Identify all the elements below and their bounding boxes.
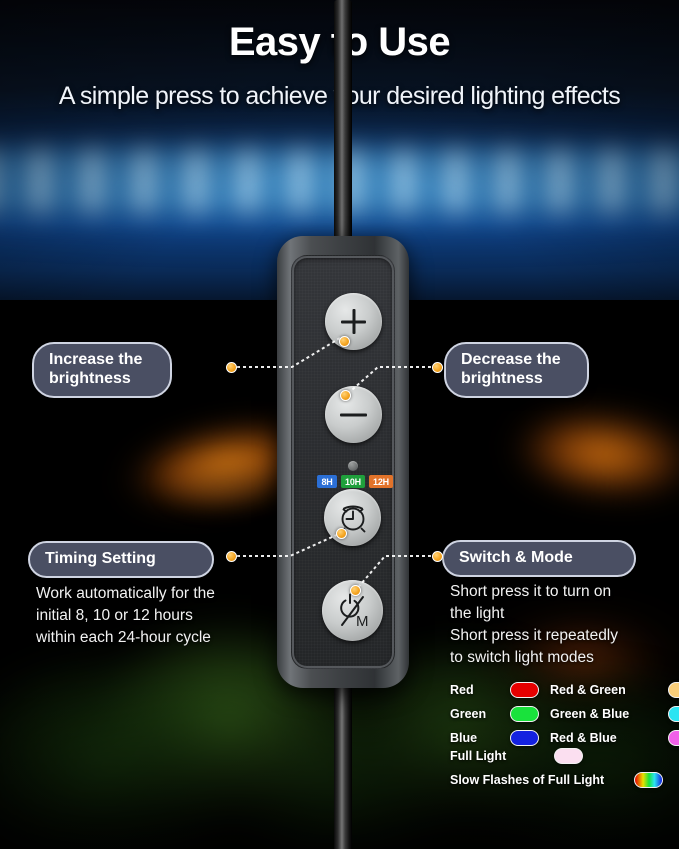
legend-label-green: Green — [450, 707, 510, 721]
timing-description: Work automatically for the initial 8, 10… — [36, 583, 266, 649]
legend-label-full-light: Full Light — [450, 749, 546, 763]
svg-text:M: M — [356, 613, 369, 630]
anchor-dot-decrease — [340, 390, 351, 401]
callout-decrease-brightness: Decrease the brightness — [444, 342, 589, 398]
legend-label-blue: Blue — [450, 731, 510, 745]
legend-swatch-green-blue — [668, 706, 679, 722]
plus-icon — [325, 293, 382, 350]
minus-icon — [325, 386, 382, 443]
legend-swatch-red — [510, 682, 539, 698]
callout-switch-mode: Switch & Mode — [442, 540, 636, 577]
anchor-dot-increase — [339, 336, 350, 347]
status-led-indicator — [348, 461, 358, 471]
anchor-dot-decrease-end — [432, 362, 443, 373]
anchor-dot-timing-end — [226, 551, 237, 562]
legend-swatch-green — [510, 706, 539, 722]
anchor-dot-increase-end — [226, 362, 237, 373]
anchor-dot-switch — [350, 585, 361, 596]
power-cable-bottom — [334, 680, 352, 849]
infographic-stage: Easy to Use A simple press to achieve yo… — [0, 0, 679, 849]
timing-setting-button[interactable] — [324, 489, 381, 546]
decrease-brightness-button[interactable] — [325, 386, 382, 443]
timer-badge-10h: 10H — [341, 475, 365, 488]
timer-badge-8h: 8H — [317, 475, 337, 488]
legend-label-green-blue: Green & Blue — [550, 707, 668, 721]
callout-increase-brightness: Increase the brightness — [32, 342, 172, 398]
anchor-dot-switch-end — [432, 551, 443, 562]
light-mode-legend: Red Red & Green Green Green & Blue Blue … — [450, 682, 675, 788]
legend-label-red: Red — [450, 683, 510, 697]
legend-label-red-green: Red & Green — [550, 683, 668, 697]
legend-swatch-red-green — [668, 682, 679, 698]
increase-brightness-button[interactable] — [325, 293, 382, 350]
timer-badge-12h: 12H — [369, 475, 393, 488]
power-cable-top — [334, 0, 352, 245]
legend-label-slow-flash: Slow Flashes of Full Light — [450, 773, 626, 787]
legend-swatch-slow-flash — [634, 772, 663, 788]
legend-swatch-full-light — [554, 748, 583, 764]
callout-timing-setting: Timing Setting — [28, 541, 214, 578]
legend-swatch-blue — [510, 730, 539, 746]
legend-swatch-red-blue — [668, 730, 679, 746]
legend-label-red-blue: Red & Blue — [550, 731, 668, 745]
switch-description: Short press it to turn on the light Shor… — [450, 581, 670, 669]
anchor-dot-timing — [336, 528, 347, 539]
